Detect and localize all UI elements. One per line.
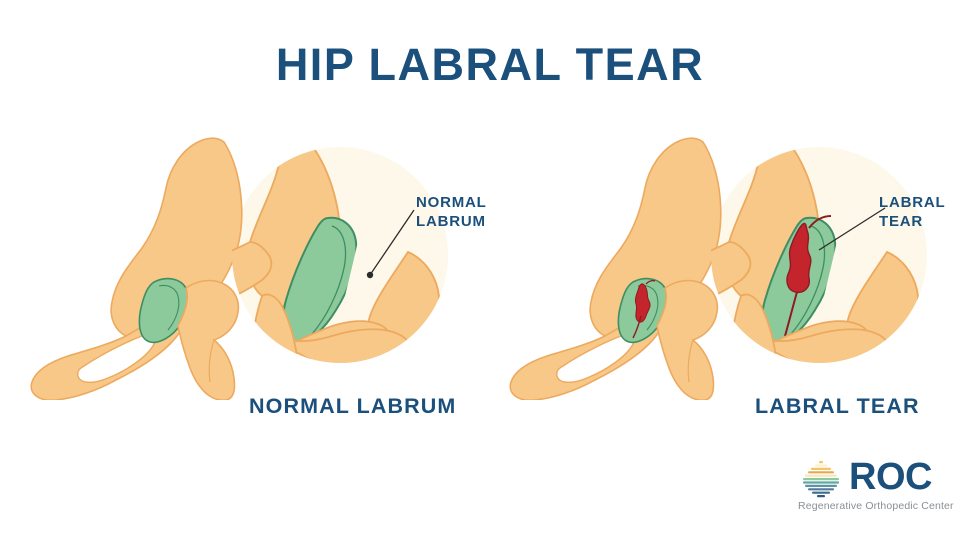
caption-labral-tear: LABRAL TEAR xyxy=(755,396,920,418)
roc-tagline: Regenerative Orthopedic Center xyxy=(798,501,954,512)
page-title: HIP LABRAL TEAR xyxy=(0,42,980,87)
callout-normal-labrum: NORMAL LABRUM xyxy=(416,194,487,232)
roc-wordmark: ROC xyxy=(849,458,932,496)
leader-dot-normal xyxy=(367,272,373,278)
illustration-labral-tear xyxy=(478,130,970,400)
roc-striped-circle-mark xyxy=(799,460,843,500)
roc-logo: ROC Regenerative Orthopedic Center xyxy=(797,460,967,522)
caption-normal-labrum: NORMAL LABRUM xyxy=(249,396,456,418)
pelvis-small-normal xyxy=(31,138,242,400)
illustration-normal-labrum xyxy=(10,130,480,400)
infographic-canvas: HIP LABRAL TEAR xyxy=(0,0,980,551)
pelvis-small-tear xyxy=(510,138,721,400)
callout-labral-tear: LABRAL TEAR xyxy=(879,194,945,232)
